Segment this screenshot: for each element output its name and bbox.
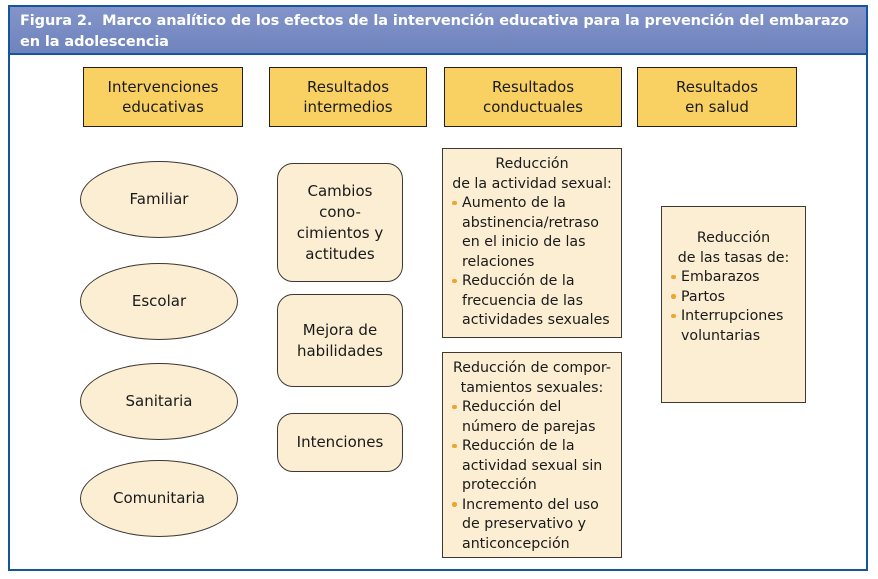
- column-header-resultados-intermedios: Resultados intermedios: [269, 67, 427, 127]
- column-header-intervenciones-educativas: Intervenciones educativas: [83, 67, 243, 127]
- bullet-dot-icon: [452, 405, 457, 410]
- node-sanitaria: Sanitaria: [80, 363, 238, 440]
- node-familiar: Familiar: [80, 161, 238, 238]
- figure-caption-text: Marco analítico de los efectos de la int…: [20, 13, 849, 50]
- node-comunitaria: Comunitaria: [80, 460, 238, 537]
- node-cambios-conocimientos-actitudes: Cambios cono- cimientos y actitudes: [277, 163, 403, 282]
- bullet-list: Reducción del número de parejas Reducció…: [451, 398, 613, 554]
- list-item-label: Partos: [681, 288, 797, 308]
- list-item: Interrupciones voluntarias: [670, 307, 797, 346]
- node-reduccion-comportamientos-sexuales: Reducción de compor- tamientos sexuales:…: [442, 352, 622, 558]
- bullet-dot-icon: [452, 444, 457, 449]
- node-label: Cambios cono- cimientos y actitudes: [297, 181, 383, 265]
- node-label: Familiar: [130, 190, 189, 209]
- node-label: Sanitaria: [126, 392, 193, 411]
- node-label: Intenciones: [297, 432, 384, 453]
- node-reduccion-actividad-sexual: Reducción de la actividad sexual: Aument…: [442, 148, 622, 338]
- list-item-label: Reducción de la actividad sexual sin pro…: [462, 437, 613, 496]
- list-item-label: Interrupciones voluntarias: [681, 307, 797, 346]
- figure-frame: Figura 2. Marco analítico de los efectos…: [8, 5, 868, 571]
- column-header-resultados-conductuales: Resultados conductuales: [444, 67, 622, 127]
- list-item-label: Incremento del uso de preservativo y ant…: [462, 496, 613, 555]
- list-item: Reducción de la frecuencia de las activi…: [451, 272, 613, 331]
- bullet-dot-icon: [671, 294, 676, 299]
- list-item: Reducción del número de parejas: [451, 398, 613, 437]
- bullet-list: Aumento de la abstinencia/retraso en el …: [451, 194, 613, 331]
- list-item-label: Aumento de la abstinencia/retraso en el …: [462, 194, 613, 272]
- list-item: Incremento del uso de preservativo y ant…: [451, 496, 613, 555]
- node-title: Reducción de las tasas de:: [670, 229, 797, 268]
- node-label: Comunitaria: [113, 489, 205, 508]
- bullet-dot-icon: [671, 314, 676, 319]
- column-header-label: Resultados conductuales: [483, 77, 583, 117]
- column-header-resultados-en-salud: Resultados en salud: [637, 67, 797, 127]
- list-item: Reducción de la actividad sexual sin pro…: [451, 437, 613, 496]
- list-item: Aumento de la abstinencia/retraso en el …: [451, 194, 613, 272]
- diagram-canvas: Intervenciones educativas Resultados int…: [10, 55, 866, 569]
- column-header-label: Intervenciones educativas: [108, 77, 219, 117]
- node-mejora-de-habilidades: Mejora de habilidades: [277, 294, 403, 387]
- bullet-dot-icon: [452, 502, 457, 507]
- list-item: Embarazos: [670, 268, 797, 288]
- node-label: Escolar: [132, 292, 186, 311]
- bullet-dot-icon: [452, 201, 457, 206]
- bullet-dot-icon: [452, 279, 457, 284]
- node-reduccion-tasas: Reducción de las tasas de: Embarazos Par…: [661, 206, 806, 403]
- figure-caption: Figura 2. Marco analítico de los efectos…: [10, 7, 866, 55]
- node-title: Reducción de la actividad sexual:: [451, 155, 613, 194]
- bullet-list: Embarazos Partos Interrupciones voluntar…: [670, 268, 797, 346]
- figure-caption-number: Figura 2.: [20, 13, 92, 29]
- list-item-label: Reducción del número de parejas: [462, 398, 613, 437]
- column-header-label: Resultados intermedios: [303, 77, 392, 117]
- list-item-label: Embarazos: [681, 268, 797, 288]
- node-intenciones: Intenciones: [277, 413, 403, 472]
- node-label: Mejora de habilidades: [297, 320, 383, 362]
- node-escolar: Escolar: [80, 263, 238, 340]
- list-item: Partos: [670, 288, 797, 308]
- column-header-label: Resultados en salud: [676, 77, 758, 117]
- list-item-label: Reducción de la frecuencia de las activi…: [462, 272, 613, 331]
- node-title: Reducción de compor- tamientos sexuales:: [451, 359, 613, 398]
- bullet-dot-icon: [671, 275, 676, 280]
